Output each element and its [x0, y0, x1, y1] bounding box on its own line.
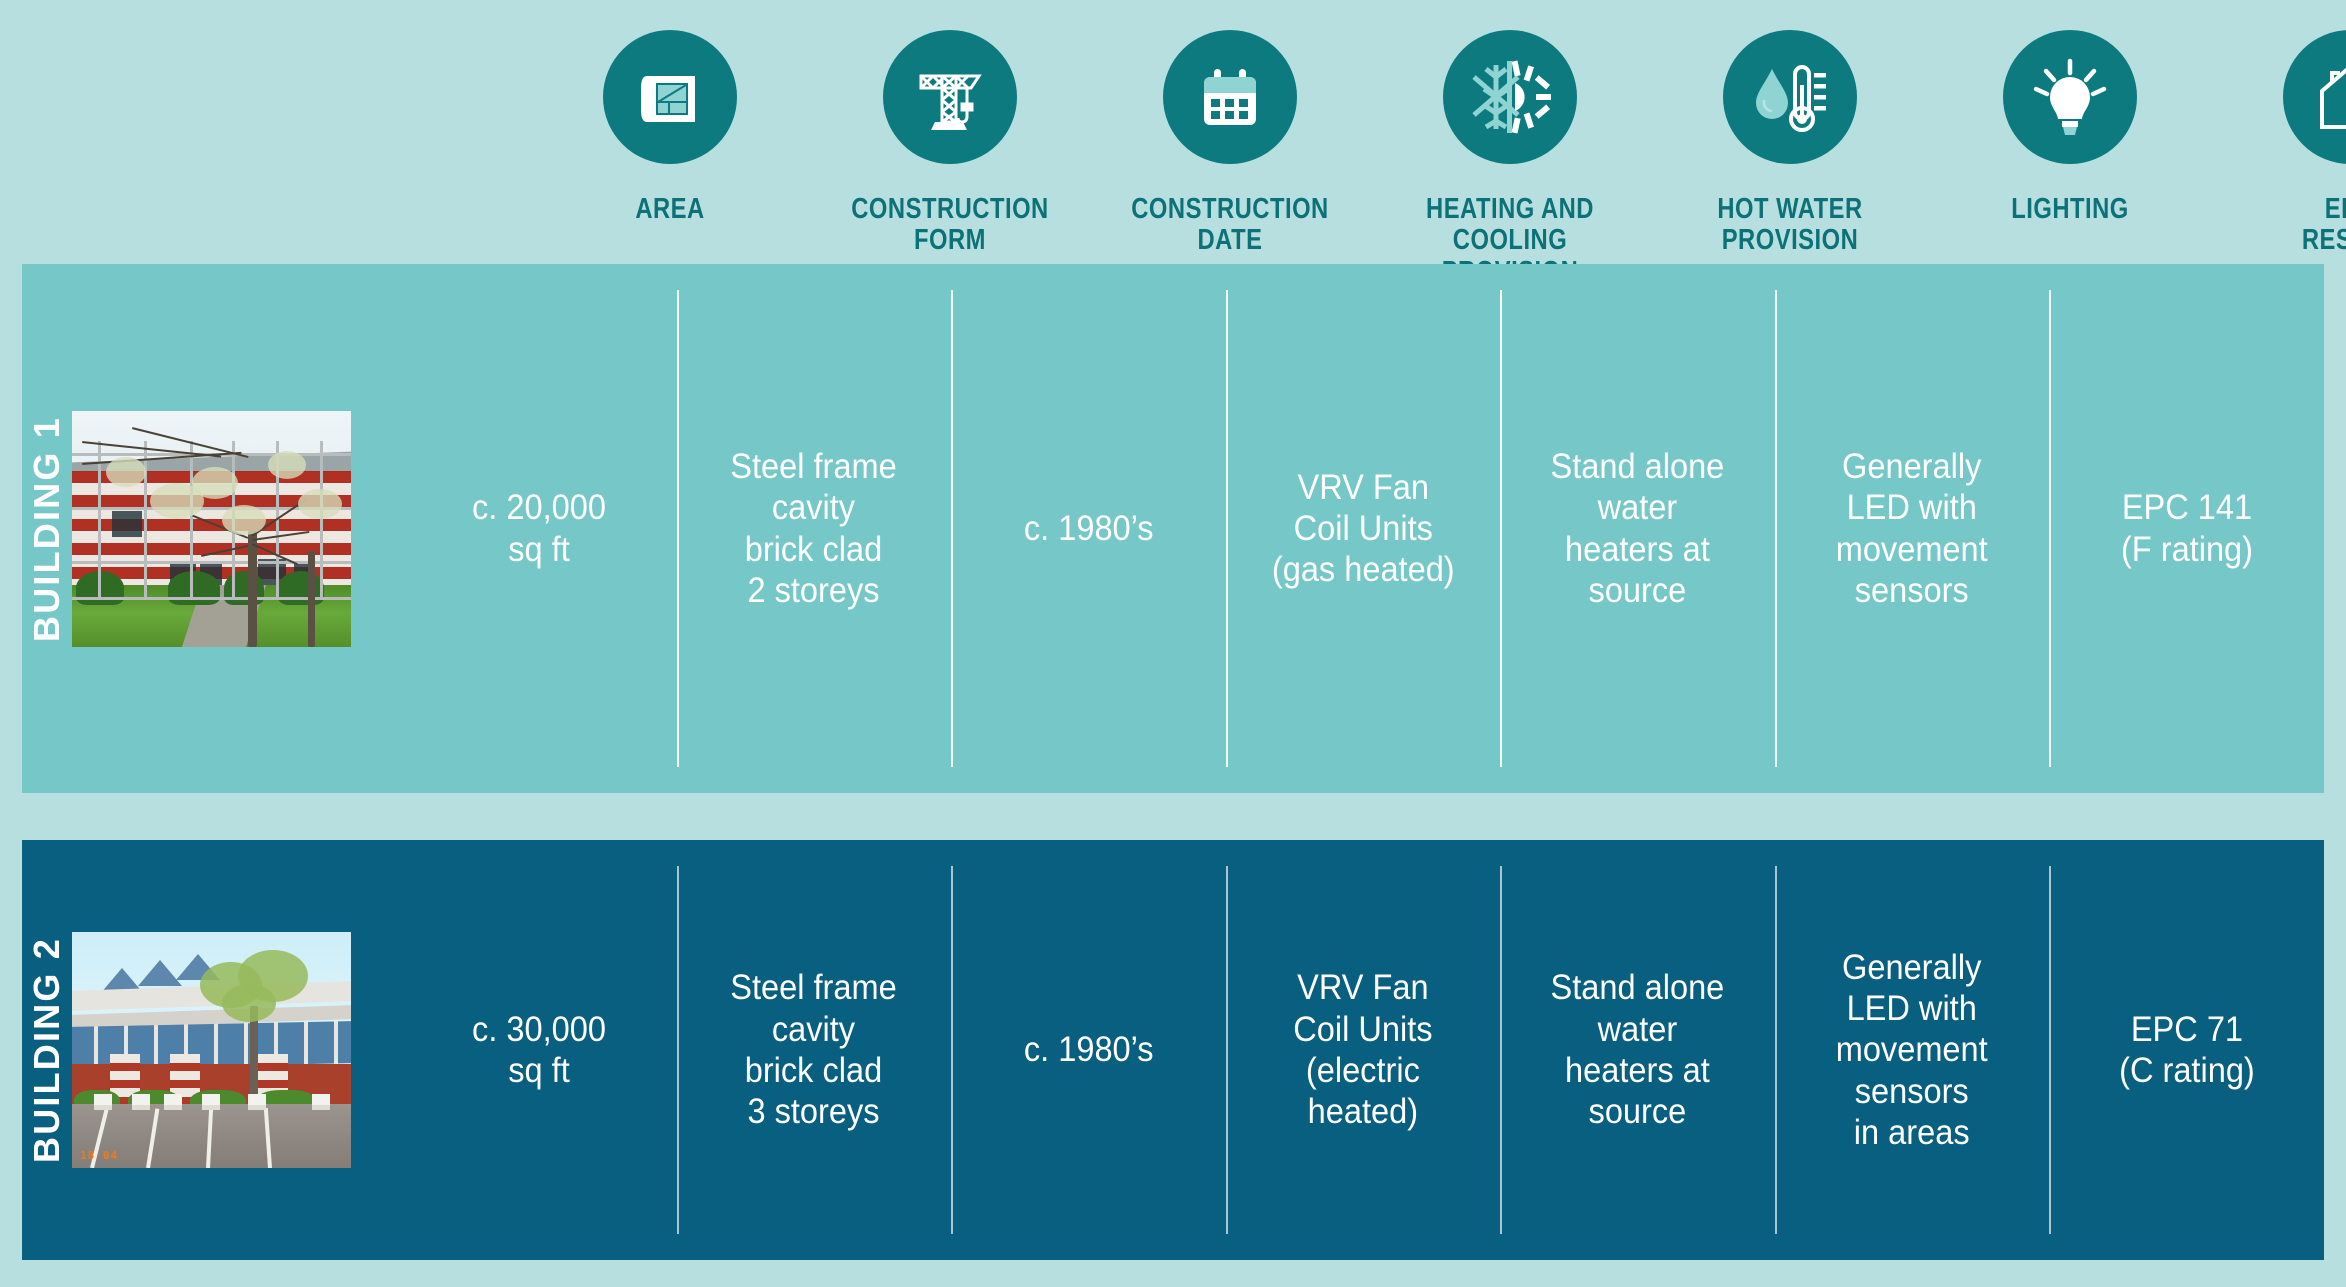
cell-building-1-construction-form: Steel frame cavity brick clad 2 storeys: [677, 264, 952, 793]
floor-plan-icon: [603, 30, 737, 164]
cell-building-2-heating-cooling: VRV Fan Coil Units (electric heated): [1226, 840, 1501, 1260]
building-1-photo-slot: [72, 264, 402, 793]
photo-date-stamp: 18 04: [80, 1149, 118, 1162]
header-column-heating-cooling: HEATING AND COOLING PROVISION: [1370, 30, 1650, 288]
header-label-construction-form: CONSTRUCTION FORM: [835, 194, 1065, 257]
header-column-lighting: LIGHTING: [1930, 30, 2210, 225]
building-2-cells: c. 30,000 sq ft Steel frame cavity brick…: [402, 840, 2324, 1260]
cell-building-1-heating-cooling: VRV Fan Coil Units (gas heated): [1226, 264, 1501, 793]
building-1-label: BUILDING 1: [26, 415, 68, 641]
calendar-icon: [1163, 30, 1297, 164]
header-label-hot-water: HOT WATER PROVISION: [1675, 194, 1905, 257]
epc-house-rating-icon: [2283, 30, 2346, 164]
header-label-area: AREA: [555, 194, 785, 225]
table-row-building-1: BUILDING 1: [22, 264, 2324, 793]
building-2-label: BUILDING 2: [26, 937, 68, 1163]
header-label-construction-date: CONSTRUCTION DATE: [1115, 194, 1345, 257]
header-column-area: AREA: [530, 30, 810, 225]
header-column-epc: EPC RESULT: [2210, 30, 2346, 257]
table-row-building-2: BUILDING 2: [22, 840, 2324, 1260]
cell-building-2-hot-water: Stand alone water heaters at source: [1500, 840, 1775, 1260]
building-1-cells: c. 20,000 sq ft Steel frame cavity brick…: [402, 264, 2324, 793]
cell-building-2-area: c. 30,000 sq ft: [402, 840, 677, 1260]
cell-building-2-construction-date: c. 1980’s: [951, 840, 1226, 1260]
water-drop-thermometer-icon: [1723, 30, 1857, 164]
cell-building-2-epc: EPC 71 (C rating): [2049, 840, 2324, 1260]
cell-building-1-hot-water: Stand alone water heaters at source: [1500, 264, 1775, 793]
header-label-epc: EPC RESULT: [2235, 194, 2346, 257]
header-label-lighting: LIGHTING: [1955, 194, 2185, 225]
building-1-photo: [72, 411, 351, 647]
building-2-photo: 18 04: [72, 932, 351, 1168]
snowflake-sun-icon: [1443, 30, 1577, 164]
header-column-construction-form: CONSTRUCTION FORM: [810, 30, 1090, 257]
cell-building-2-construction-form: Steel frame cavity brick clad 3 storeys: [677, 840, 952, 1260]
header-column-hot-water: HOT WATER PROVISION: [1650, 30, 1930, 257]
cell-building-1-lighting: Generally LED with movement sensors: [1775, 264, 2050, 793]
header-column-construction-date: CONSTRUCTION DATE: [1090, 30, 1370, 257]
construction-crane-icon: [883, 30, 1017, 164]
cell-building-1-construction-date: c. 1980’s: [951, 264, 1226, 793]
cell-building-1-area: c. 20,000 sq ft: [402, 264, 677, 793]
building-1-label-slot: BUILDING 1: [22, 264, 72, 793]
building-2-label-slot: BUILDING 2: [22, 840, 72, 1260]
building-2-photo-slot: 18 04: [72, 840, 402, 1260]
cell-building-2-lighting: Generally LED with movement sensors in a…: [1775, 840, 2050, 1260]
cell-building-1-epc: EPC 141 (F rating): [2049, 264, 2324, 793]
light-bulb-icon: [2003, 30, 2137, 164]
